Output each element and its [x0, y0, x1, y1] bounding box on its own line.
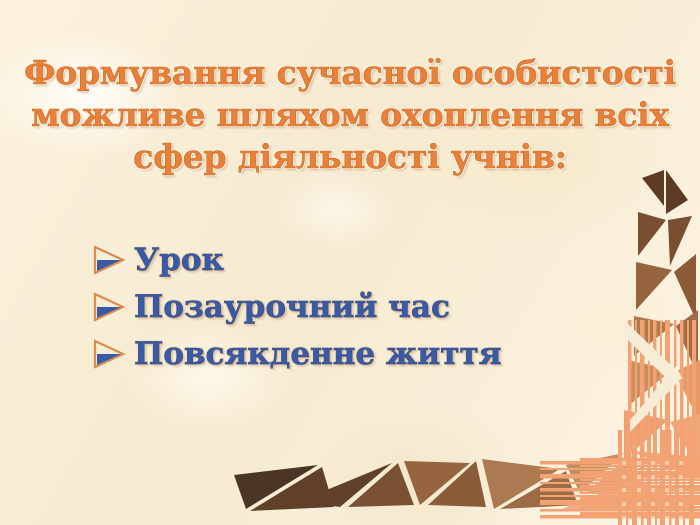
list-item: Повсякденне життя — [92, 330, 612, 377]
list-item-label: Позаурочний час — [134, 289, 450, 325]
arrowhead-bullet-icon — [92, 290, 134, 324]
bullet-list: Урок Позаурочний час Повсякденне життя — [92, 236, 612, 377]
title-line-3: сфер діяльності учнів: — [0, 136, 700, 178]
arrowhead-bullet-icon — [92, 337, 134, 371]
woven-grid-decoration — [580, 430, 700, 525]
arrowhead-bullet-icon — [92, 243, 134, 277]
list-item: Позаурочний час — [92, 283, 612, 330]
bottom-triangle-band-decoration — [0, 435, 700, 525]
list-item-label: Урок — [134, 242, 224, 278]
slide-canvas: Формування сучасної особистості можливе … — [0, 0, 700, 525]
title-line-1: Формування сучасної особистості — [0, 52, 700, 94]
slide-title: Формування сучасної особистості можливе … — [0, 52, 700, 178]
title-line-2: можливе шляхом охоплення всіх — [0, 94, 700, 136]
list-item: Урок — [92, 236, 612, 283]
list-item-label: Повсякденне життя — [134, 336, 502, 372]
